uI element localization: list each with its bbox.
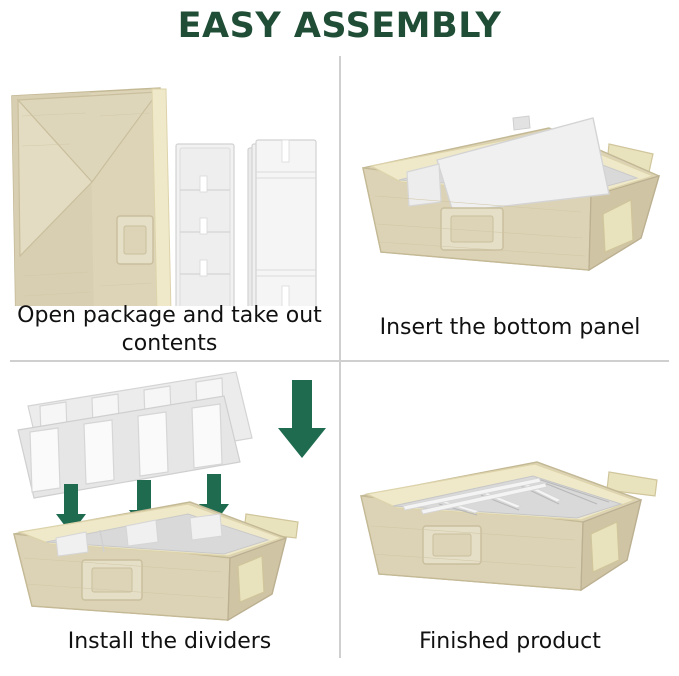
finished-organizer-art [341, 362, 679, 672]
down-arrow-icon [278, 380, 326, 458]
panel-caption-open-package: Open package and take out contents [0, 302, 339, 357]
panel-finished-product: Finished product [341, 362, 679, 672]
install-dividers-illustration [0, 362, 339, 622]
panel-caption-install-dividers: Install the dividers [0, 628, 339, 656]
panel-caption-insert-bottom: Insert the bottom panel [341, 314, 679, 342]
flat-pack-illustration [0, 56, 339, 306]
instruction-graphic: EASY ASSEMBLY [0, 0, 679, 676]
bin-with-dividers-art [0, 362, 339, 672]
panel-caption-finished-product: Finished product [341, 628, 679, 656]
caption-line-2: contents [0, 330, 339, 358]
page-title: EASY ASSEMBLY [0, 6, 679, 46]
panel-open-package: Open package and take out contents [0, 56, 339, 360]
caption-line-1: Open package and take out [0, 302, 339, 330]
caption-line-1: Finished product [341, 628, 679, 656]
caption-line-1: Insert the bottom panel [341, 314, 679, 342]
caption-line-1: Install the dividers [0, 628, 339, 656]
panel-insert-bottom: Insert the bottom panel [341, 56, 679, 360]
open-bin-illustration [341, 56, 679, 306]
finished-organizer-illustration [341, 362, 679, 622]
panel-install-dividers: Install the dividers [0, 362, 339, 672]
